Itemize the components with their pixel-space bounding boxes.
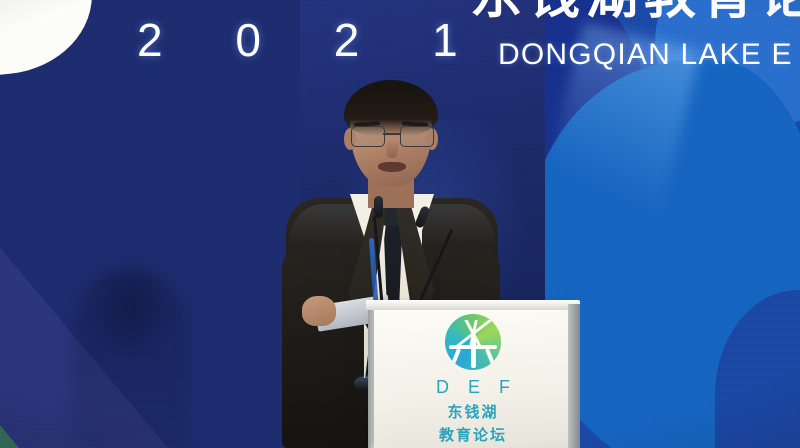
backdrop-year: 2 0 2 1 [137, 14, 488, 66]
backdrop-chinese-title: 东钱湖教育论坛 [470, 0, 800, 24]
podium-acronym: D E F [429, 377, 517, 398]
podium-top-surface [366, 300, 580, 310]
podium-chinese-line-1: 东钱湖 [447, 401, 498, 422]
white-logo-swash [0, 0, 99, 83]
video-frame: 东钱湖教育论坛 2 0 2 1 DONGQIAN LAKE E [0, 0, 800, 448]
backdrop-english-title: DONGQIAN LAKE E [498, 38, 793, 72]
podium-chinese-line-2: 教育论坛 [439, 424, 507, 445]
podium-branding: D E F 东钱湖 教育论坛 [374, 314, 572, 445]
def-tree-logo-icon [445, 314, 501, 370]
speaker-shadow-silhouette [72, 268, 188, 448]
mic-capsule-right [414, 205, 431, 229]
logo-branch-left [449, 348, 461, 370]
logo-branch-right [485, 348, 497, 370]
podium-edge-right [568, 304, 580, 448]
podium: D E F 东钱湖 教育论坛 [374, 306, 572, 448]
